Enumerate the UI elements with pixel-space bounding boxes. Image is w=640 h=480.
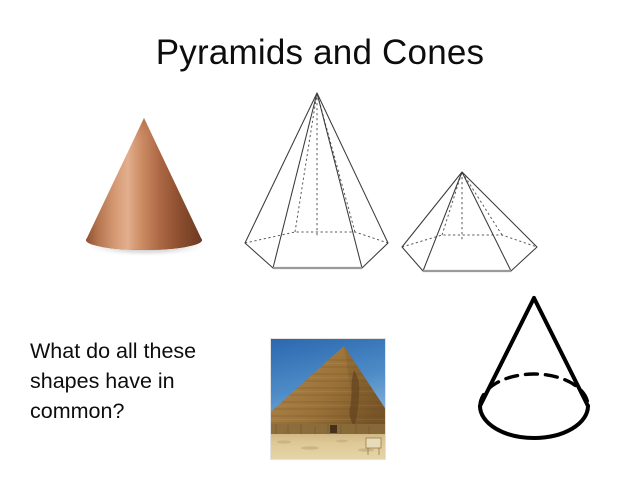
photo-dark-doorway	[330, 425, 337, 433]
question-text: What do all these shapes have in common?	[30, 336, 255, 426]
short-pyramid-front-edge-left	[423, 172, 462, 271]
short-pyramid-hidden-edges	[402, 172, 537, 247]
short-pyramid-figure	[398, 162, 544, 278]
outline-cone-sides-right	[534, 298, 588, 406]
short-pyramid-front-edge-right	[462, 172, 511, 271]
outline-cone-figure	[472, 292, 598, 444]
solid-cone-figure	[64, 104, 224, 264]
pyramid-photograph	[270, 338, 386, 460]
outline-cone-base-front	[480, 406, 588, 438]
tall-pyramid-hidden-edges	[245, 93, 388, 243]
tall-pyramid-front-edge-right	[317, 93, 362, 268]
cone-tip-shading	[123, 118, 165, 166]
outline-cone-base-hidden	[480, 374, 588, 406]
page-title: Pyramids and Cones	[0, 32, 640, 74]
tall-pyramid-front-edge-left	[273, 93, 317, 268]
slide-canvas: Pyramids and Cones	[0, 0, 640, 480]
tall-pyramid-figure	[238, 86, 394, 276]
